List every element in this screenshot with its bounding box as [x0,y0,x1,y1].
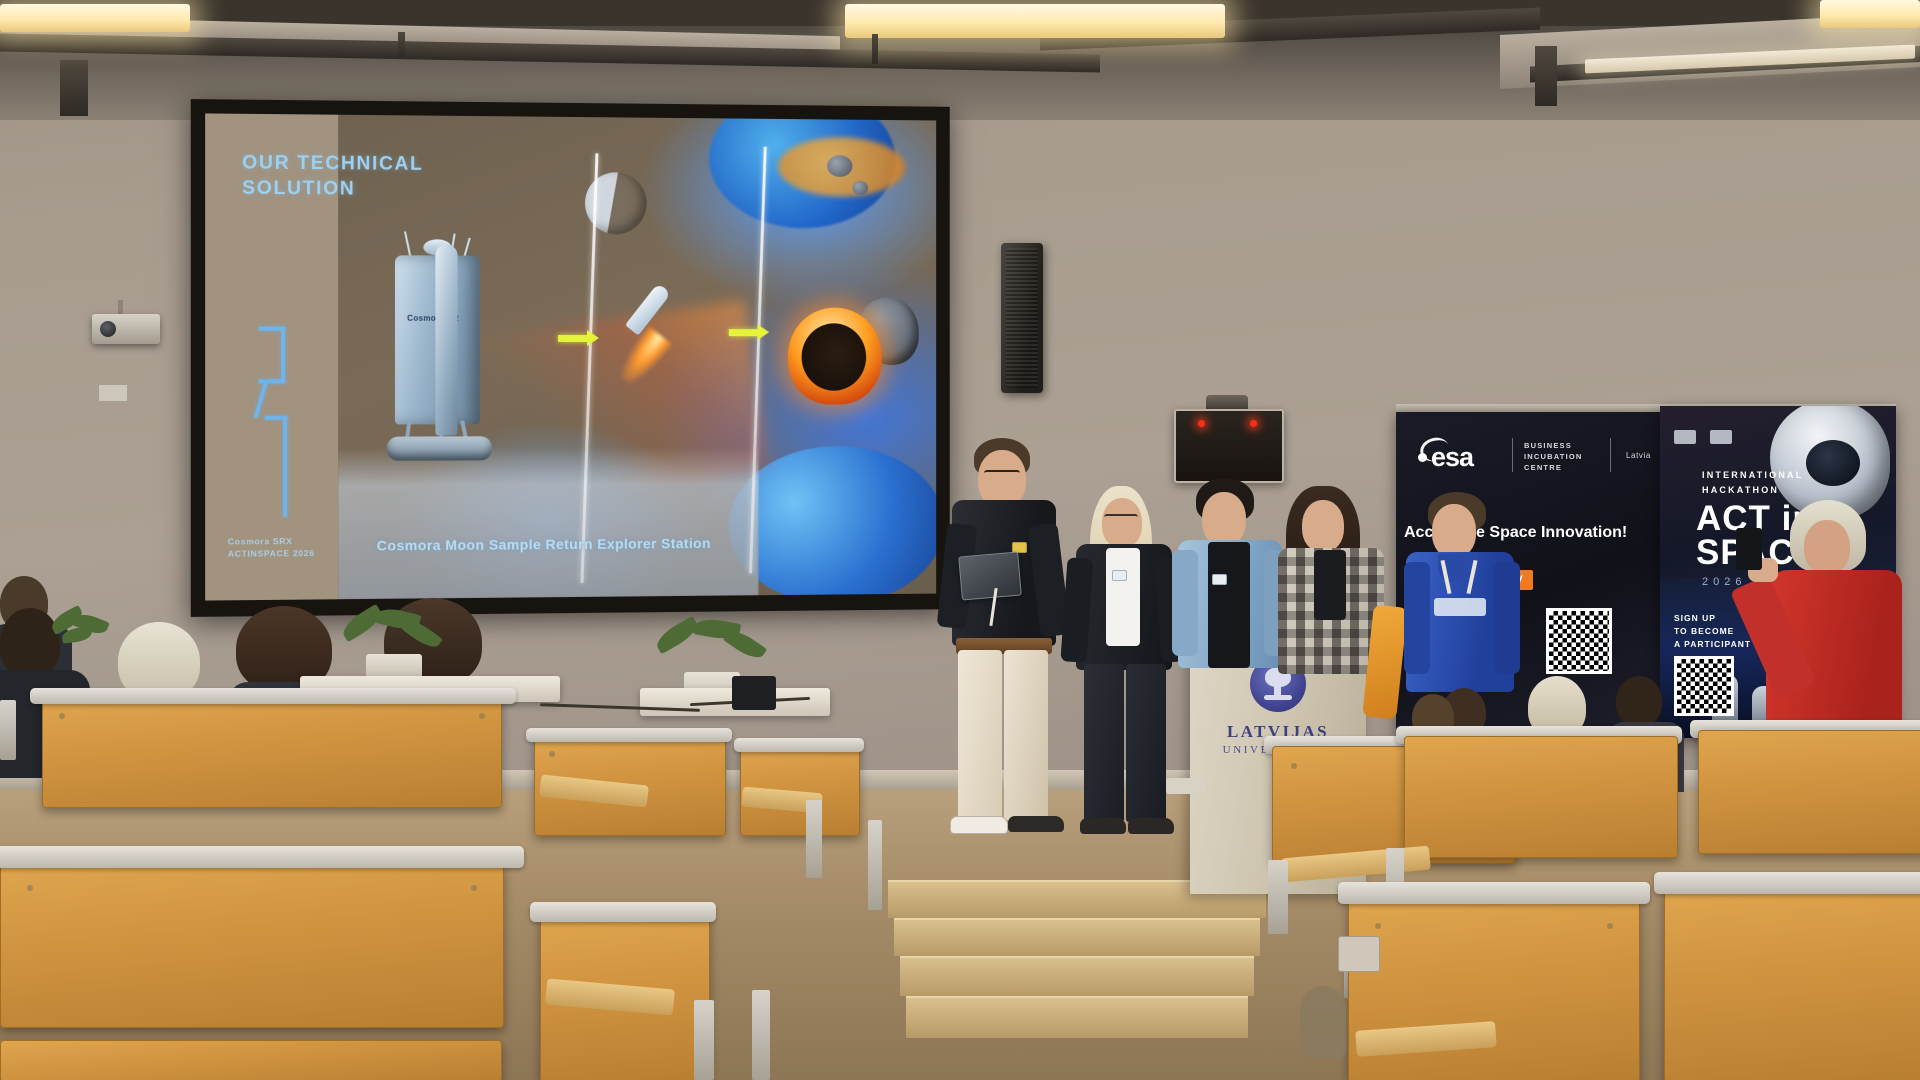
power-outlet[interactable] [1338,936,1380,972]
step-2 [894,918,1260,956]
seat-rail-a [30,688,516,704]
esa-dot-icon [1418,453,1427,462]
seat-rail-a3 [734,738,864,752]
head [1616,676,1662,726]
slide-title: OUR TECHNICAL SOLUTION [242,150,423,202]
esa-bic-line-2: INCUBATION [1524,451,1583,462]
presenter-blonde-right-leg [1126,664,1166,822]
slide-artwork: Cosmora-SR [338,115,936,600]
esa-logo: esa [1418,444,1473,471]
presenter-plaid-inner-top [1314,550,1346,620]
ceiling-rod-1 [398,32,405,58]
banner-signup-text: SIGN UP TO BECOME A PARTICIPANT [1674,612,1751,651]
seat-rail-g [1338,882,1650,904]
seat-back-row-b-1[interactable] [0,862,504,1028]
flow-arrow-1 [558,335,588,342]
qr-code-icon [1546,608,1612,674]
seat-back-row-d-2[interactable] [1404,736,1678,858]
seat-post-3 [868,820,882,910]
lecture-hall-scene: Cosmora-SR [0,0,1920,1080]
seat-rail-b [0,846,524,868]
presenter-hoodie-left-arm [1404,562,1430,674]
seat-rail-a2 [526,728,732,742]
slide-glyph [259,327,320,519]
presenter-speaking [930,438,1080,888]
rover-track [387,436,492,461]
esa-divider-2 [1610,438,1611,472]
seat-back-row-c-1[interactable] [0,1040,502,1080]
eyeglasses-icon [984,470,1020,480]
presenter-denim-left-arm [1172,550,1198,656]
step-4 [906,996,1248,1038]
projection-screen: Cosmora-SR [191,99,950,617]
banner-kicker: INTERNATIONAL HACKATHON [1702,468,1803,498]
projector-lens-icon [100,321,116,337]
ceiling-hanger-right [1535,46,1557,106]
presenter-left-leg [958,650,1002,820]
seat-post-2 [806,800,822,878]
presenter-hoodie-right-arm [1494,562,1520,674]
qr-code-pattern [1549,611,1609,671]
presenter-denim-head [1202,492,1246,546]
partner-logo-1 [1674,430,1696,444]
presenter-denim-inner-top [1208,542,1250,668]
esa-bic-line-1: BUSINESS [1524,440,1583,451]
hoodie-print [1434,598,1486,616]
slide-title-line-2: SOLUTION [242,176,423,202]
presenter-blonde-top [1106,548,1140,646]
seat-post-4 [694,1000,714,1080]
rock-small-2 [852,181,868,195]
presenter-blonde-left-leg [1084,664,1124,822]
wall-display-unit [1174,409,1284,483]
esa-bic-line-3: CENTRE [1524,462,1583,473]
wall-plate [98,384,128,402]
slide-footer: Cosmora SRX ACTINSPACE 2026 [228,535,315,560]
status-led-right [1250,420,1257,427]
partner-logo-2 [1710,430,1732,444]
leaf [401,616,443,652]
potted-plant-1 [40,612,120,682]
signup-line-3: A PARTICIPANT [1674,638,1751,651]
seat-back-row-a-1[interactable] [42,698,502,808]
slide-footer-line-2: ACTINSPACE 2026 [228,547,315,560]
esa-divider-1 [1512,438,1513,472]
presenter-denim-badge [1212,574,1227,585]
seat-post [0,700,16,760]
photographer-head [1804,520,1850,574]
presenter-plaid [1272,486,1390,766]
banner-partner-logos [1674,430,1732,444]
display-mount [1206,395,1248,409]
seat-post-6 [1268,860,1288,934]
presenter-blonde-badge [1112,570,1127,581]
flow-arrow-2 [729,329,759,336]
astronaut-visor [1806,440,1860,486]
esa-bic-text: BUSINESS INCUBATION CENTRE [1524,440,1583,473]
leaf [723,626,767,664]
ceiling-hanger-left [60,60,88,116]
eyeglasses-icon [1104,514,1138,523]
kicker-line-1: INTERNATIONAL [1702,468,1803,483]
slide-caption: Cosmora Moon Sample Return Explorer Stat… [377,535,711,554]
presenter-tablet[interactable] [958,551,1022,600]
ceiling-light-3 [1820,0,1920,28]
seat-rail-h [1654,872,1920,894]
presenter-blonde-right-shoe [1128,818,1174,834]
stage-steps [888,880,1266,1038]
presenter-hoodie-head [1432,504,1476,558]
earth-sphere [729,446,936,600]
presenter-left-shoe [950,816,1008,834]
wall-socket[interactable] [1166,778,1206,794]
bag-on-floor [1300,986,1346,1058]
presentation-slide: Cosmora-SR [205,113,936,600]
seat-back-row-d-3[interactable] [1698,730,1920,854]
presenter-right-shoe [1008,816,1064,832]
ascent-vehicle-on-pad [435,244,457,435]
presenter-blonde-head [1102,498,1142,548]
capsule-heat-shield [802,323,867,390]
signup-line-2: TO BECOME [1674,625,1751,638]
ceiling-light-2 [845,4,1225,38]
seat-back-row-e-2[interactable] [1664,888,1920,1080]
wall-speaker [1001,243,1043,393]
seat-rail-b2 [530,902,716,922]
presenter-right-leg [1004,650,1048,820]
ceiling-rod-2 [872,34,878,64]
kicker-line-2: HACKATHON [1702,483,1803,498]
slide-footer-line-1: Cosmora SRX [228,535,315,548]
esa-logo-text: esa [1431,444,1473,471]
seat-post-5 [752,990,770,1080]
speaker-grill [1006,248,1038,388]
esa-country-label: Latvia [1626,451,1651,460]
ceiling-projector [92,314,160,344]
phone-camera-icon[interactable] [1736,528,1762,570]
ceiling-light-1 [0,4,190,32]
rock-small-1 [827,155,852,177]
status-led-left [1198,420,1205,427]
presenter-blonde-left-shoe [1080,818,1126,834]
presenter-plaid-head [1302,500,1344,552]
slide-title-line-1: OUR TECHNICAL [242,150,423,177]
equipment-box [732,676,776,710]
step-3 [900,956,1254,996]
